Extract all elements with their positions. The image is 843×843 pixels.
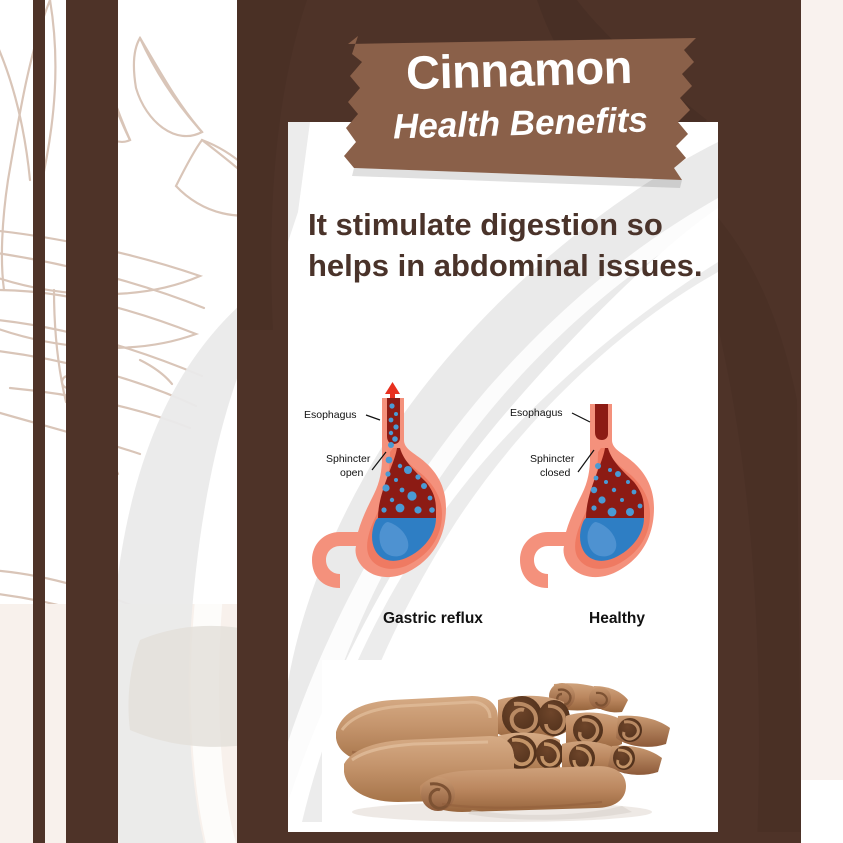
svg-text:closed: closed — [540, 467, 571, 479]
banner-subtitle: Health Benefits — [330, 101, 711, 147]
accent-bar-wide — [66, 0, 118, 843]
svg-text:Esophagus: Esophagus — [304, 409, 357, 421]
diagram-gastric-reflux: Esophagus Sphincter open — [304, 382, 446, 588]
label-esophagus-left: Esophagus — [304, 409, 380, 421]
banner-text-group: Cinnamon Health Benefits — [328, 23, 712, 194]
svg-text:Sphincter: Sphincter — [326, 453, 371, 465]
banner-title: Cinnamon — [328, 41, 709, 99]
svg-text:Esophagus: Esophagus — [510, 407, 563, 419]
svg-text:Sphincter: Sphincter — [530, 453, 575, 465]
bottom-brown-strip — [237, 832, 801, 843]
label-sphincter-closed: Sphincter closed — [530, 450, 594, 479]
banner: Cinnamon Health Benefits — [330, 28, 710, 188]
page-headline: It stimulate digestion so helps in abdom… — [308, 205, 708, 287]
accent-bar-thin — [33, 0, 45, 843]
stomach-diagram: Esophagus Sphincter open — [296, 382, 716, 642]
label-sphincter-open: Sphincter open — [326, 452, 386, 479]
caption-healthy: Healthy — [589, 610, 645, 628]
infographic-canvas: Cinnamon Health Benefits It stimulate di… — [0, 0, 843, 843]
caption-gastric-reflux: Gastric reflux — [383, 610, 483, 628]
svg-text:open: open — [340, 467, 364, 479]
cinnamon-sticks-photo — [322, 660, 718, 828]
label-esophagus-right: Esophagus — [510, 407, 590, 422]
diagram-healthy: Esophagus Sphincter closed — [510, 404, 654, 588]
